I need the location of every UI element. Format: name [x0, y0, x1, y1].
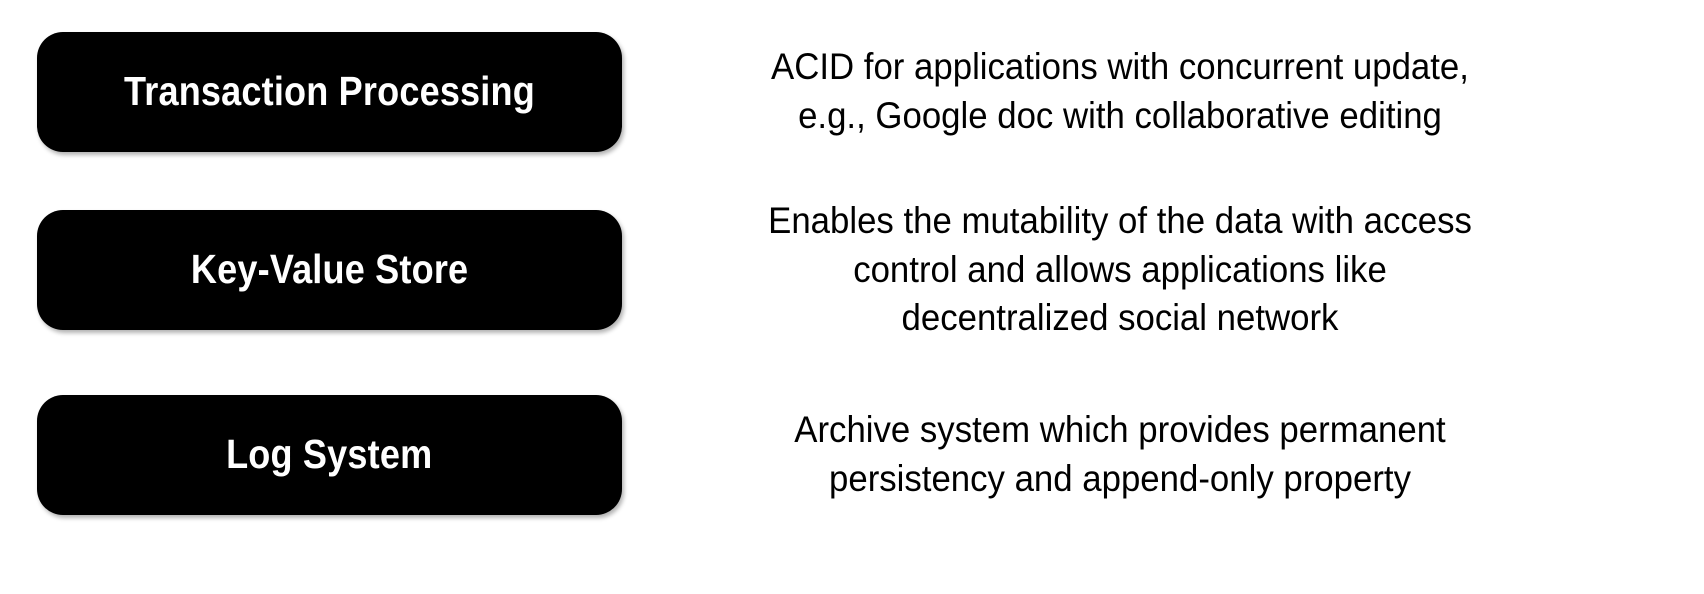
description-line: decentralized social network	[744, 294, 1496, 343]
description-column: Archive system which provides permanent …	[700, 406, 1704, 504]
node-label: Key-Value Store	[191, 248, 468, 291]
node-box-key-value-store[interactable]: Key-Value Store	[37, 210, 622, 330]
description-line: persistency and append-only property	[744, 455, 1496, 504]
description-column: Enables the mutability of the data with …	[700, 197, 1704, 343]
description-column: ACID for applications with concurrent up…	[700, 43, 1704, 141]
box-column: Log System	[0, 395, 700, 515]
node-description-log-system: Archive system which provides permanent …	[744, 406, 1496, 504]
diagram-row: Log System Archive system which provides…	[0, 373, 1704, 537]
component-diagram: Transaction Processing ACID for applicat…	[0, 0, 1704, 594]
diagram-row: Key-Value Store Enables the mutability o…	[0, 188, 1704, 352]
box-column: Transaction Processing	[0, 32, 700, 152]
description-line: ACID for applications with concurrent up…	[744, 43, 1496, 92]
node-description-key-value-store: Enables the mutability of the data with …	[744, 197, 1496, 343]
description-line: Enables the mutability of the data with …	[744, 197, 1496, 246]
node-label: Transaction Processing	[124, 70, 535, 113]
node-box-log-system[interactable]: Log System	[37, 395, 622, 515]
node-box-transaction-processing[interactable]: Transaction Processing	[37, 32, 622, 152]
node-label: Log System	[226, 433, 432, 476]
description-line: Archive system which provides permanent	[744, 406, 1496, 455]
node-description-transaction-processing: ACID for applications with concurrent up…	[744, 43, 1496, 141]
description-line: e.g., Google doc with collaborative edit…	[744, 92, 1496, 141]
box-column: Key-Value Store	[0, 210, 700, 330]
diagram-row: Transaction Processing ACID for applicat…	[0, 10, 1704, 174]
description-line: control and allows applications like	[744, 246, 1496, 295]
